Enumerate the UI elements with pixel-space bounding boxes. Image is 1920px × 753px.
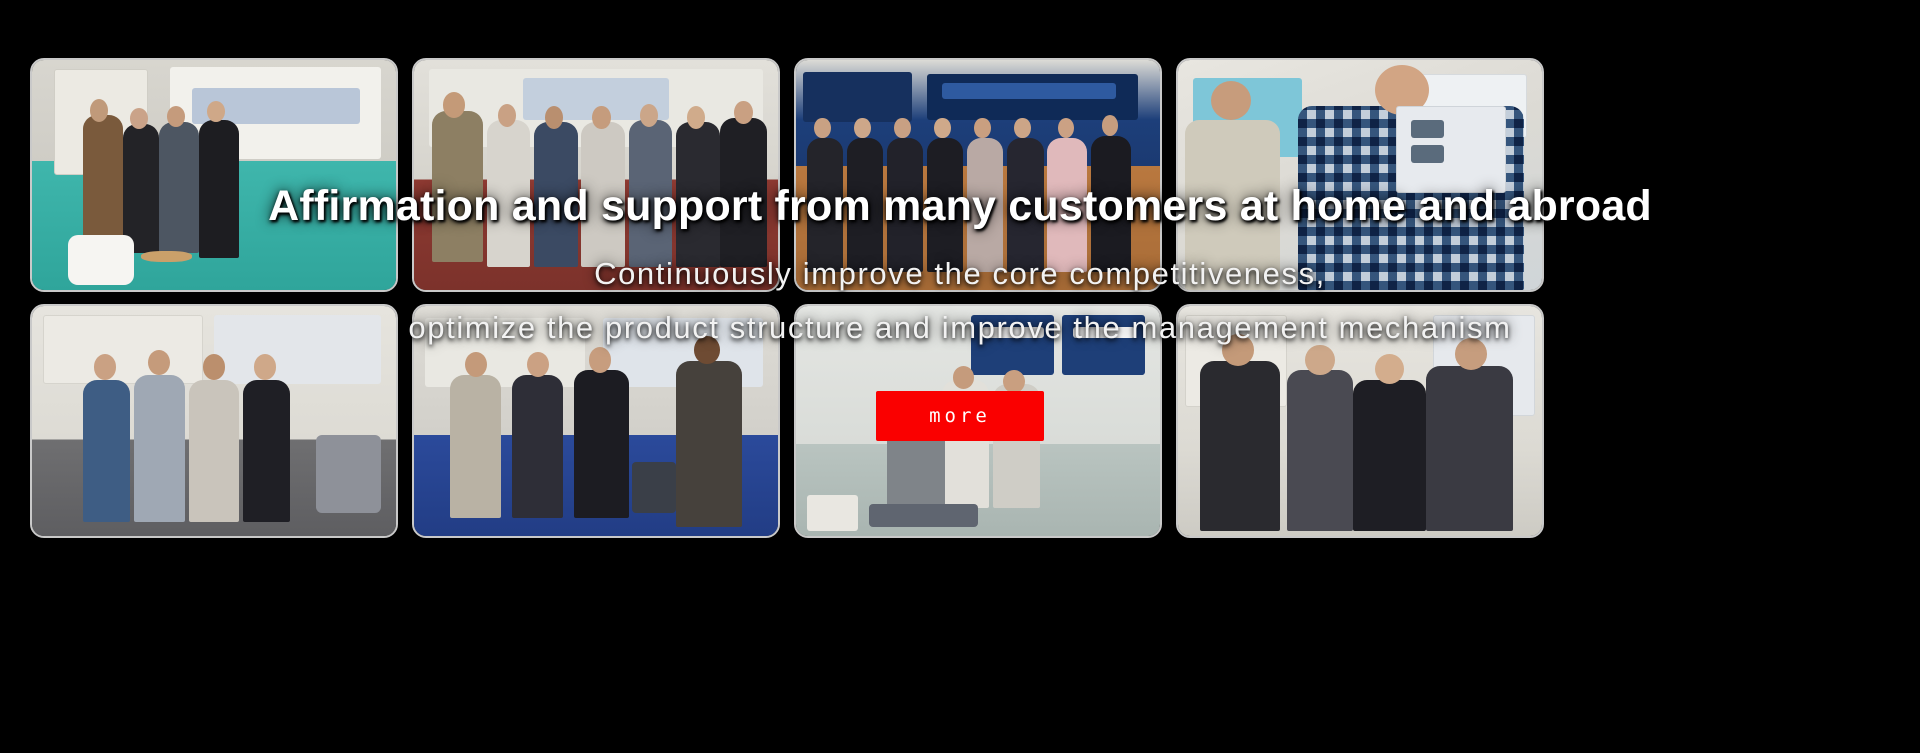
gallery-tile[interactable] (412, 58, 780, 292)
gallery-tile[interactable] (30, 58, 398, 292)
gallery-tile[interactable] (1176, 304, 1544, 538)
more-button[interactable]: more (876, 391, 1044, 441)
gallery-tile[interactable] (794, 58, 1162, 292)
gallery-tile[interactable] (412, 304, 780, 538)
gallery-tile[interactable] (30, 304, 398, 538)
banner-section: Affirmation and support from many custom… (0, 0, 1920, 753)
gallery-tile[interactable] (1176, 58, 1544, 292)
photo-gallery-grid (30, 58, 1540, 538)
